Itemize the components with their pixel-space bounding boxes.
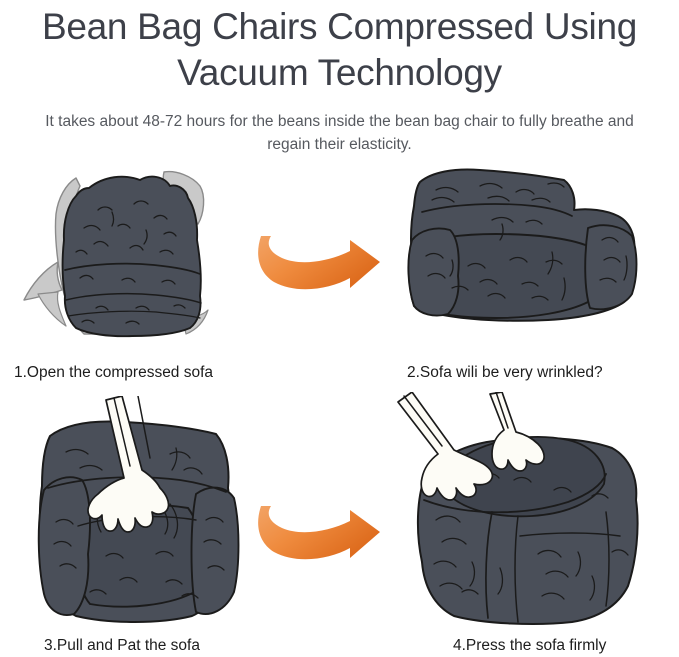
hand-patting-sofa-icon [20, 396, 264, 628]
step-3-illustration [20, 396, 264, 628]
step-4-illustration [396, 392, 648, 628]
step-2-caption: 2.Sofa wili be very wrinkled? [407, 363, 603, 383]
compressed-sofa-in-vacuum-bag-icon [14, 166, 254, 352]
two-hands-pressing-sofa-icon [396, 392, 648, 628]
wrinkled-bean-bag-chair-icon [392, 164, 650, 352]
step-1-illustration [14, 166, 254, 352]
step-3-to-4-arrow [254, 502, 386, 564]
step-3-caption: 3.Pull and Pat the sofa [44, 636, 200, 656]
step-4-caption: 4.Press the sofa firmly [453, 636, 606, 656]
step-2-illustration [392, 164, 650, 352]
compressed-sofa-block [63, 177, 201, 337]
step-1-to-2-arrow [254, 232, 386, 294]
page-title: Bean Bag Chairs Compressed Using Vacuum … [0, 0, 679, 96]
page-subtitle: It takes about 48-72 hours for the beans… [40, 110, 640, 156]
infographic-header: Bean Bag Chairs Compressed Using Vacuum … [0, 0, 679, 156]
bean-bag-chair-body [408, 170, 636, 321]
step-1-caption: 1.Open the compressed sofa [14, 363, 213, 383]
